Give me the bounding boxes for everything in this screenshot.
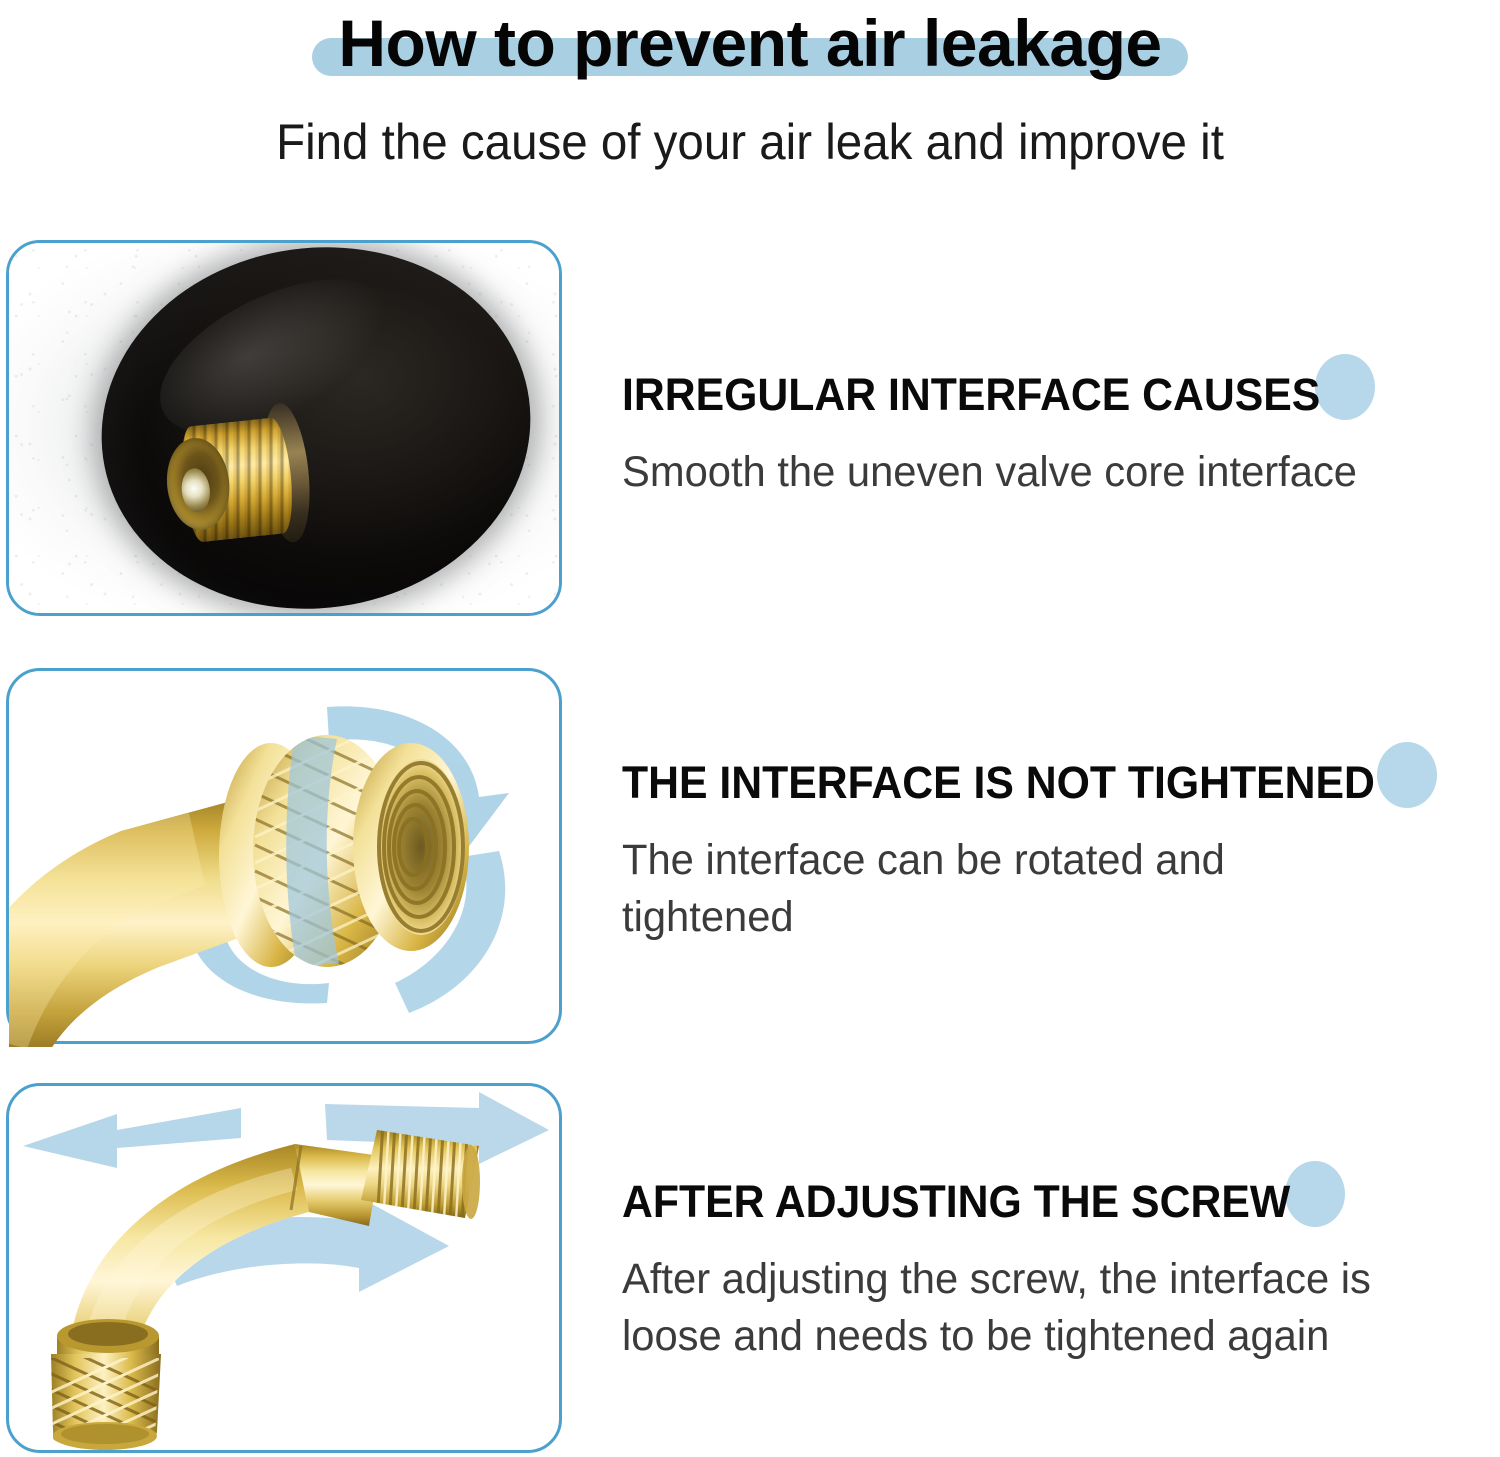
photo-card-1 [6,240,562,616]
feature-text-2: THE INTERFACE IS NOT TIGHTENED The inter… [622,756,1492,946]
accent-dot-icon [1377,742,1437,808]
accent-dot-icon [1285,1161,1345,1227]
valve-extender-arrows-illustration [9,1086,559,1450]
heading-row-1: IRREGULAR INTERFACE CAUSES [622,368,1357,422]
section-body-3: After adjusting the screw, the interface… [622,1251,1458,1365]
photo-2-valve-extender-rotating [9,671,559,1041]
section-heading-1: IRREGULAR INTERFACE CAUSES [622,368,1320,422]
heading-row-3: AFTER ADJUSTING THE SCREW [622,1175,1325,1229]
feature-row-1: IRREGULAR INTERFACE CAUSES Smooth the un… [0,240,1500,616]
valve-stem [155,413,297,550]
section-body-1: Smooth the uneven valve core interface [622,444,1466,501]
accent-dot-icon [1315,354,1375,420]
photo-1-valve-stem-in-rim [9,243,559,613]
valve-core [180,467,212,514]
feature-text-1: IRREGULAR INTERFACE CAUSES Smooth the un… [622,368,1492,501]
page-subtitle: Find the cause of your air leak and impr… [38,112,1463,172]
section-heading-2: THE INTERFACE IS NOT TIGHTENED [622,756,1375,810]
page-title-wrapper: How to prevent air leakage [0,4,1500,82]
page-title: How to prevent air leakage [338,6,1161,80]
feature-text-3: AFTER ADJUSTING THE SCREW After adjustin… [622,1175,1492,1365]
feature-row-2: THE INTERFACE IS NOT TIGHTENED The inter… [0,668,1500,1044]
feature-row-3: AFTER ADJUSTING THE SCREW After adjustin… [0,1083,1500,1453]
valve-threaded-mouth [353,743,469,951]
section-body-2: The interface can be rotated and tighten… [622,832,1359,946]
photo-card-3 [6,1083,562,1453]
photo-card-2 [6,668,562,1044]
header: How to prevent air leakage Find the caus… [0,0,1500,210]
knurled-base-cap [43,1319,169,1450]
section-heading-3: AFTER ADJUSTING THE SCREW [622,1175,1290,1229]
valve-extender-rotation-illustration [9,671,565,1047]
heading-row-2: THE INTERFACE IS NOT TIGHTENED [622,756,1415,810]
photo-3-valve-extender-loose [9,1086,559,1450]
